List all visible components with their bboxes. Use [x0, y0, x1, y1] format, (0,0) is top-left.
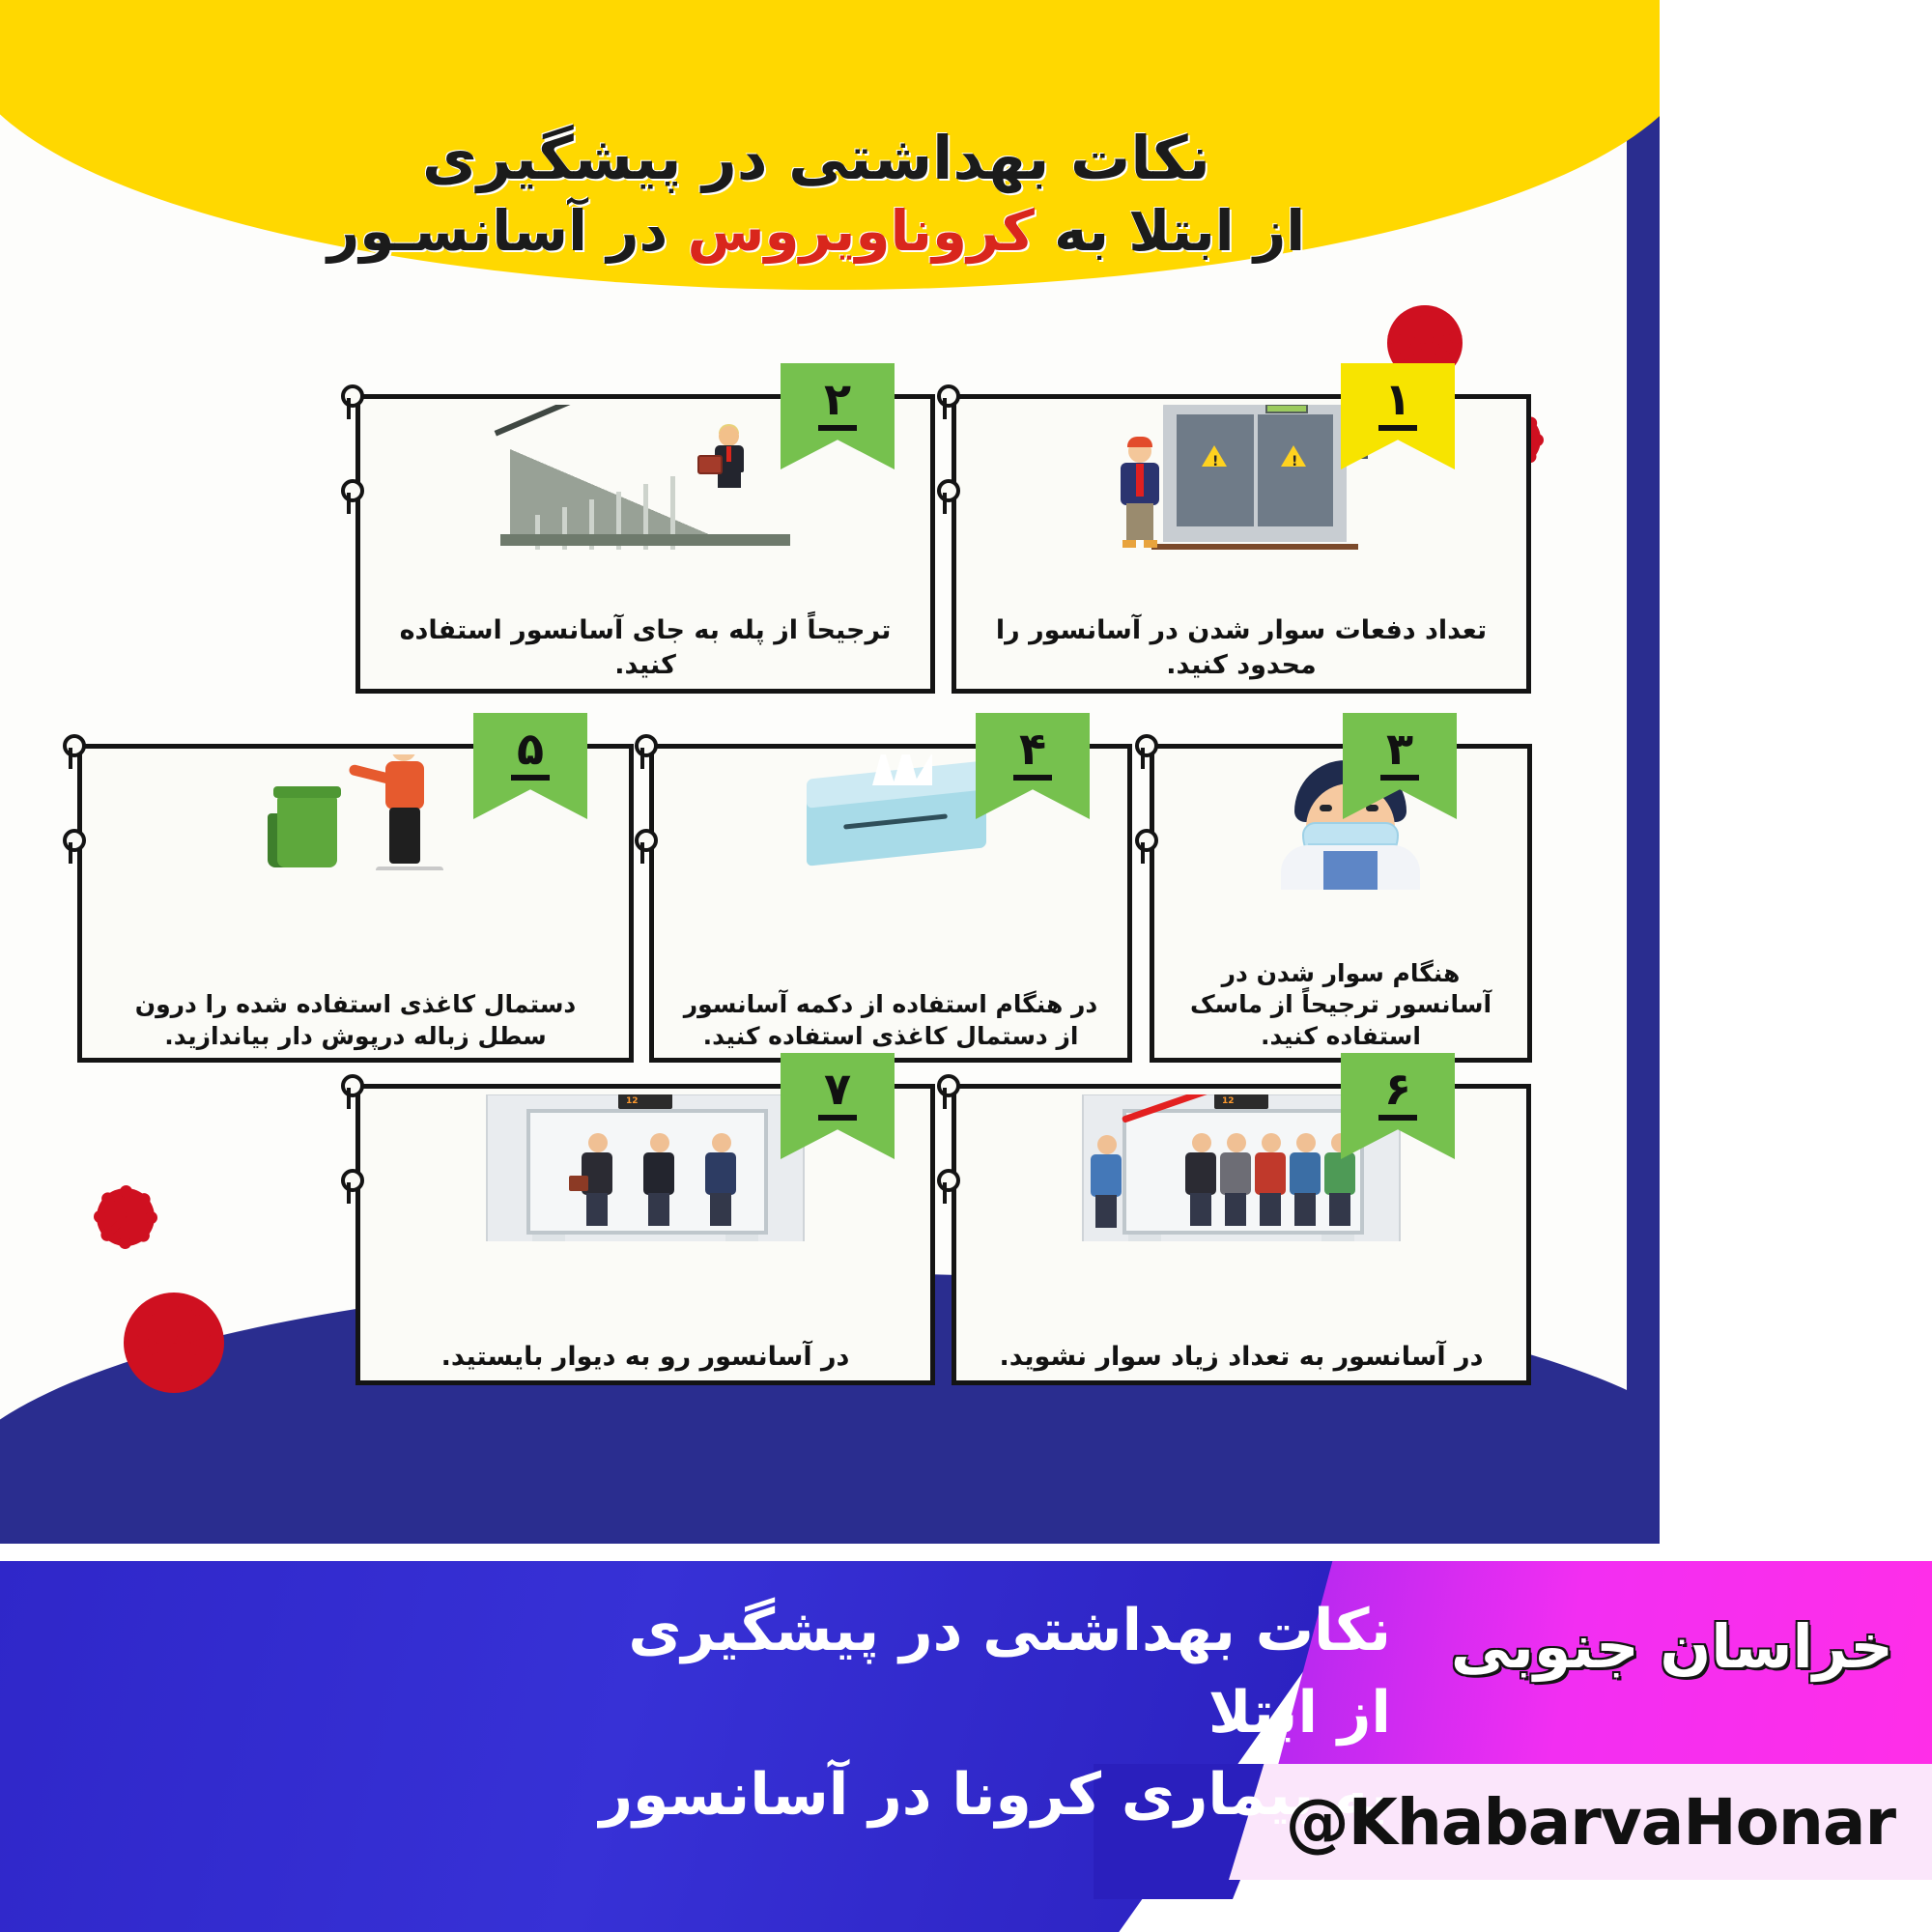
pin-card-4-a	[635, 734, 650, 767]
pin-card-6-b	[937, 1169, 952, 1202]
tip-card-4-text: در هنگام استفاده از دکمه آسانسور از دستم…	[654, 989, 1127, 1052]
banner-region-label: خراسان جنوبی	[1430, 1611, 1893, 1682]
banner-title-line-1: نکات بهداشتی در پیشگیری از ابتلا	[599, 1590, 1391, 1754]
tip-badge-2-number: ۲	[818, 377, 857, 431]
bottom-banner: نکات بهداشتی در پیشگیری از ابتلا به بیما…	[0, 1544, 1932, 1932]
tip-badge-1-number: ۱	[1378, 377, 1417, 431]
infographic-poster: نکات بهداشتی در پیشگیری از ابتلا به کرون…	[0, 0, 1932, 1932]
tip-card-3[interactable]: هنگام سوار شدن در آسانسور ترجیحاً از ماس…	[1150, 744, 1532, 1063]
pin-card-3-b	[1135, 829, 1151, 862]
pin-card-2-b	[341, 479, 356, 512]
tip-card-3-text: هنگام سوار شدن در آسانسور ترجیحاً از ماس…	[1154, 958, 1527, 1053]
tip-card-3-illustration	[1154, 754, 1527, 890]
face-wall-elevator-icon: 12	[486, 1094, 805, 1241]
title-line-2-before: از ابتلا به	[1035, 198, 1305, 264]
pin-card-7-b	[341, 1169, 356, 1202]
page-title: نکات بهداشتی در پیشگیری از ابتلا به کرون…	[0, 124, 1633, 266]
pin-card-1-a	[937, 384, 952, 417]
tip-card-1-text: تعداد دفعات سوار شدن در آسانسور را محدود…	[956, 613, 1526, 683]
tip-badge-3-number: ۳	[1380, 726, 1419, 781]
poster-sheet: نکات بهداشتی در پیشگیری از ابتلا به کرون…	[0, 0, 1660, 1544]
pin-card-2-a	[341, 384, 356, 417]
elevator-doors-icon: ! !	[1101, 405, 1381, 550]
banner-social-handle[interactable]: @KhabarvaHonar	[1258, 1785, 1895, 1860]
pin-card-5-a	[63, 734, 78, 767]
pin-card-5-b	[63, 829, 78, 862]
pin-card-1-b	[937, 479, 952, 512]
tip-card-6-text: در آسانسور به تعداد زیاد سوار نشوید.	[956, 1340, 1526, 1375]
title-line-1: نکات بهداشتی در پیشگیری	[0, 124, 1633, 192]
stairs-icon	[500, 405, 790, 550]
tip-card-2-text: ترجیحاً از پله به جای آسانسور استفاده کن…	[360, 613, 930, 683]
title-highlight-coronavirus: کروناویروس	[688, 198, 1035, 264]
pin-card-3-a	[1135, 734, 1151, 767]
tip-card-5-text: دستمال کاغذی استفاده شده را درون سطل زبا…	[82, 989, 629, 1052]
tissue-box-icon	[789, 754, 992, 870]
tip-badge-7-number: ۷	[818, 1066, 857, 1121]
pin-card-4-b	[635, 829, 650, 862]
tip-badge-5-number: ۵	[511, 726, 550, 781]
pin-card-6-a	[937, 1074, 952, 1107]
title-line-2-after: در آسانسـور	[327, 198, 688, 264]
title-line-2: از ابتلا به کروناویروس در آسانسـور	[0, 198, 1633, 266]
tip-badge-4-number: ۴	[1013, 726, 1052, 781]
tip-badge-6-number: ۶	[1378, 1066, 1417, 1121]
pin-card-7-a	[341, 1074, 356, 1107]
trash-bin-icon	[254, 754, 457, 870]
tip-card-7-text: در آسانسور رو به دیوار بایستید.	[360, 1340, 930, 1375]
